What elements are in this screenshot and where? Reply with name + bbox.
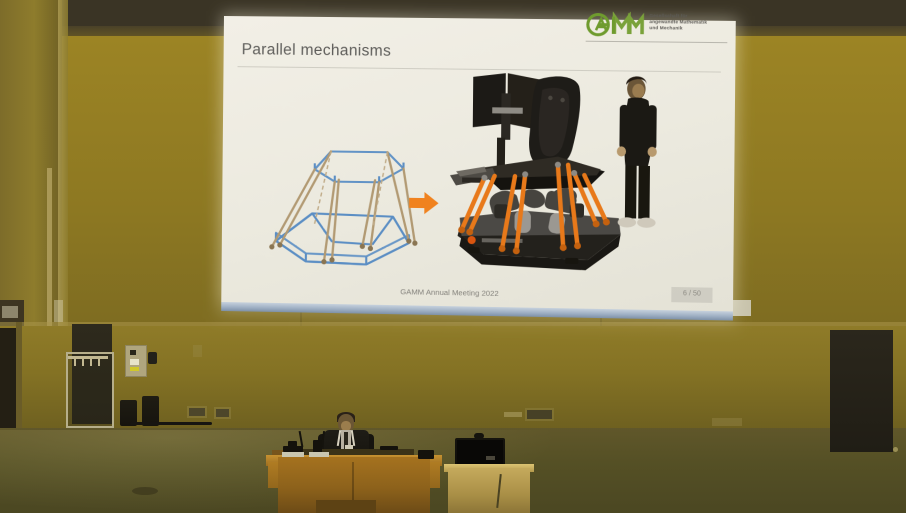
side-table <box>448 468 530 513</box>
control-indicator <box>130 350 136 355</box>
control-indicator <box>130 359 139 365</box>
monitor-display <box>457 440 503 465</box>
monitor-brand-logo <box>486 456 495 460</box>
lectern-base <box>316 500 376 513</box>
logo-underline <box>586 41 728 43</box>
slide-canvas: Gesellschaft für angewandte Mathematik u… <box>221 16 736 313</box>
coat-hook[interactable] <box>82 359 84 366</box>
outlet-plate <box>525 408 554 421</box>
slide-footer-text: GAMM Annual Meeting 2022 <box>400 287 499 298</box>
logo-line-3: und Mechanik <box>649 26 731 33</box>
podium-cable <box>380 446 398 450</box>
lecture-hall-scene: Gesellschaft für angewandte Mathematik u… <box>0 0 906 513</box>
gamm-logo-text: Gesellschaft für angewandte Mathematik u… <box>649 13 731 33</box>
wall-vent <box>504 412 522 417</box>
projected-slide: Gesellschaft für angewandte Mathematik u… <box>221 16 736 324</box>
wall-vent <box>712 418 742 426</box>
floor-drain <box>132 487 158 495</box>
motion-simulator-photo <box>435 70 672 294</box>
outlet-plate <box>214 407 231 419</box>
speaker-cable <box>130 422 212 425</box>
wall-marker <box>193 345 202 357</box>
wall-mounted-sensor <box>148 352 157 364</box>
wall-sign <box>2 306 18 318</box>
left-wall-column <box>0 0 62 330</box>
page-number-text: 6 / 50 <box>671 290 712 298</box>
left-wall-column-edge <box>58 0 68 330</box>
gamm-logo: Gesellschaft für angewandte Mathematik u… <box>586 9 730 45</box>
podium-controller[interactable] <box>283 446 303 452</box>
coat-hook[interactable] <box>74 359 76 366</box>
door-frame <box>16 322 22 430</box>
control-indicator <box>130 367 139 371</box>
left-wall-trim <box>47 168 52 328</box>
podium-keyboard[interactable] <box>309 452 329 457</box>
dark-wall-panel <box>830 330 893 452</box>
coat-hook[interactable] <box>90 359 92 366</box>
slide-title: Parallel mechanisms <box>242 41 392 61</box>
coat-hook[interactable] <box>98 359 100 366</box>
outlet-plate <box>187 406 207 418</box>
podium-keyboard[interactable] <box>282 452 304 457</box>
wall-sign <box>54 300 63 322</box>
panel-latch <box>893 447 898 452</box>
gamm-logo-mark <box>586 11 646 38</box>
slide-page-indicator: 6 / 50 <box>671 287 712 303</box>
podium-device[interactable] <box>418 450 434 459</box>
